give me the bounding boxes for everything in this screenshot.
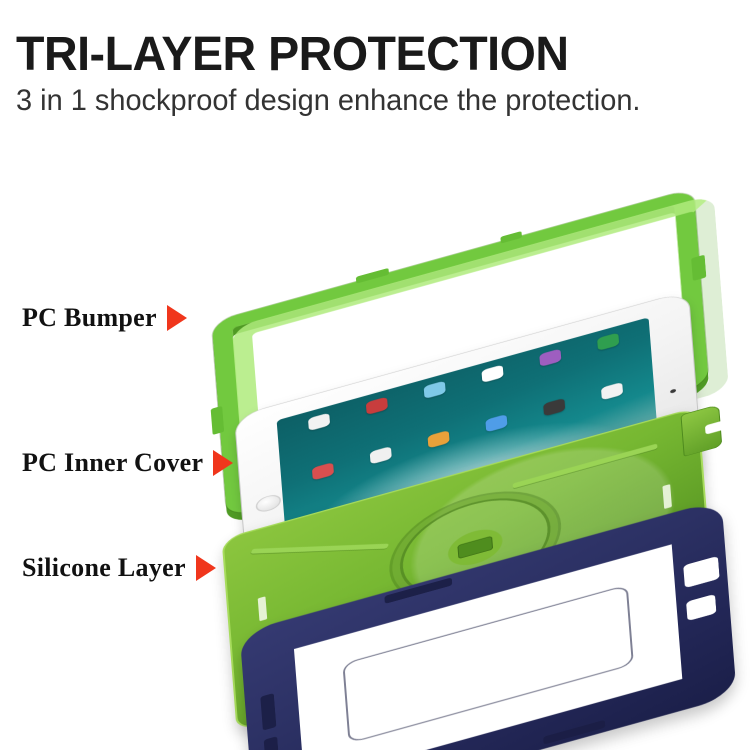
app-icon	[366, 397, 388, 415]
kickstand	[680, 404, 722, 457]
front-camera-icon	[670, 389, 676, 394]
product-infographic: TRI-LAYER PROTECTION 3 in 1 shockproof d…	[0, 0, 750, 750]
pc-bumper-nub	[211, 406, 225, 435]
home-button-icon	[255, 492, 281, 514]
pc-bumper-nub	[691, 255, 706, 281]
stand-rib	[250, 544, 389, 554]
kickstand-cutout	[705, 420, 725, 434]
app-icon	[543, 398, 565, 416]
silicone-inner-edge	[344, 586, 632, 742]
callout-label: PC Bumper	[22, 303, 157, 333]
app-icon	[597, 332, 619, 350]
callout-label: Silicone Layer	[22, 553, 186, 583]
app-icon	[370, 446, 392, 464]
exploded-product-illustration	[0, 0, 750, 750]
callout-label: PC Inner Cover	[22, 448, 203, 478]
app-icon	[481, 365, 503, 383]
app-icon	[485, 414, 507, 432]
vent-slot	[258, 596, 267, 621]
app-icon	[424, 381, 446, 399]
arrow-right-icon	[196, 555, 216, 581]
callout-pc-inner-cover: PC Inner Cover	[22, 448, 233, 478]
app-icon	[601, 382, 623, 400]
arrow-right-icon	[167, 305, 187, 331]
port-cutout	[260, 693, 276, 731]
vent-slot	[662, 484, 671, 509]
app-icon	[539, 349, 561, 367]
app-icon	[312, 462, 334, 480]
port-cutout	[264, 736, 279, 750]
callout-pc-bumper: PC Bumper	[22, 303, 187, 333]
callout-silicone-layer: Silicone Layer	[22, 553, 216, 583]
arrow-right-icon	[213, 450, 233, 476]
app-icon	[308, 413, 330, 431]
app-icon	[428, 430, 450, 448]
